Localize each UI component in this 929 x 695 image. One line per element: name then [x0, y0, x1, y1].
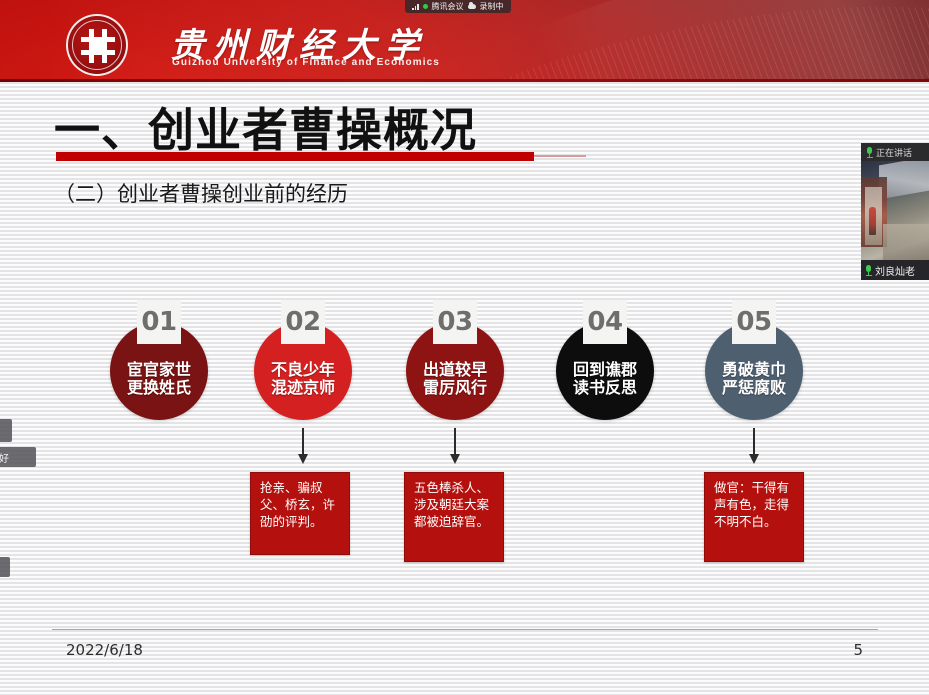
down-arrow-icon [447, 428, 463, 466]
down-arrow-icon [746, 428, 762, 466]
node-label-line1: 不良少年 [267, 361, 339, 379]
meeting-status-bar[interactable]: 腾讯会议 录制中 [405, 0, 511, 13]
node-label: 不良少年 混迹京师 [267, 361, 339, 397]
node-label-line1: 回到谯郡 [569, 361, 641, 379]
microphone-muted-indicator-icon [865, 265, 872, 276]
video-panel-header: 正在讲话 [861, 143, 929, 161]
video-participant-panel[interactable]: 正在讲话 刘良灿老 [861, 143, 929, 280]
node-label-line2: 混迹京师 [267, 379, 339, 397]
node-label-line2: 严惩腐败 [718, 379, 790, 397]
note-box-02: 抢亲、骗叔父、桥玄，许劭的评判。 [250, 472, 350, 555]
node-label: 出道较早 雷厉风行 [419, 361, 491, 397]
recording-status-label: 录制中 [480, 1, 504, 12]
footer-page-number: 5 [853, 641, 863, 659]
footer-date: 2022/6/18 [66, 641, 143, 659]
green-status-dot-icon [423, 4, 428, 9]
video-person-region [869, 207, 876, 235]
node-label: 勇破黄巾 严惩腐败 [718, 361, 790, 397]
presentation-slide: 贵州财经大学 Guizhou University of Finance and… [0, 0, 929, 695]
note-box-05: 做官：干得有声有色，走得不明不白。 [704, 472, 804, 562]
note-box-03: 五色棒杀人、涉及朝廷大案都被迫辞官。 [404, 472, 504, 562]
chat-bubble-3[interactable] [0, 557, 10, 577]
video-feed[interactable] [861, 161, 929, 260]
down-arrow-icon [295, 428, 311, 466]
node-number-badge: 05 [732, 300, 776, 344]
node-label-line2: 雷厉风行 [419, 379, 491, 397]
node-label-line1: 宦官家世 [123, 361, 195, 379]
node-number-badge: 01 [137, 300, 181, 344]
node-number-badge: 03 [433, 300, 477, 344]
node-label: 回到谯郡 读书反思 [569, 361, 641, 397]
process-diagram: 01 宦官家世 更换姓氏 02 不良少年 混迹京师 03 [0, 0, 929, 695]
node-label-line2: 更换姓氏 [123, 379, 195, 397]
footer-divider [52, 629, 878, 630]
node-number-badge: 04 [583, 300, 627, 344]
participant-name-bar: 刘良灿老 [861, 260, 929, 280]
signal-bars-icon [412, 3, 419, 10]
video-floor-region [883, 224, 929, 260]
chat-bubble-1[interactable] [0, 419, 12, 442]
node-label-line1: 勇破黄巾 [718, 361, 790, 379]
node-label-line2: 读书反思 [569, 379, 641, 397]
microphone-icon [866, 147, 873, 158]
meeting-app-name: 腾讯会议 [432, 1, 464, 12]
node-number-badge: 02 [281, 300, 325, 344]
cloud-recording-icon [468, 4, 476, 9]
speaking-status-label: 正在讲话 [876, 146, 912, 159]
node-label-line1: 出道较早 [419, 361, 491, 379]
node-label: 宦官家世 更换姓氏 [123, 361, 195, 397]
chat-bubble-2[interactable]: 师好 [0, 447, 36, 467]
participant-name: 刘良灿老 [875, 263, 915, 278]
